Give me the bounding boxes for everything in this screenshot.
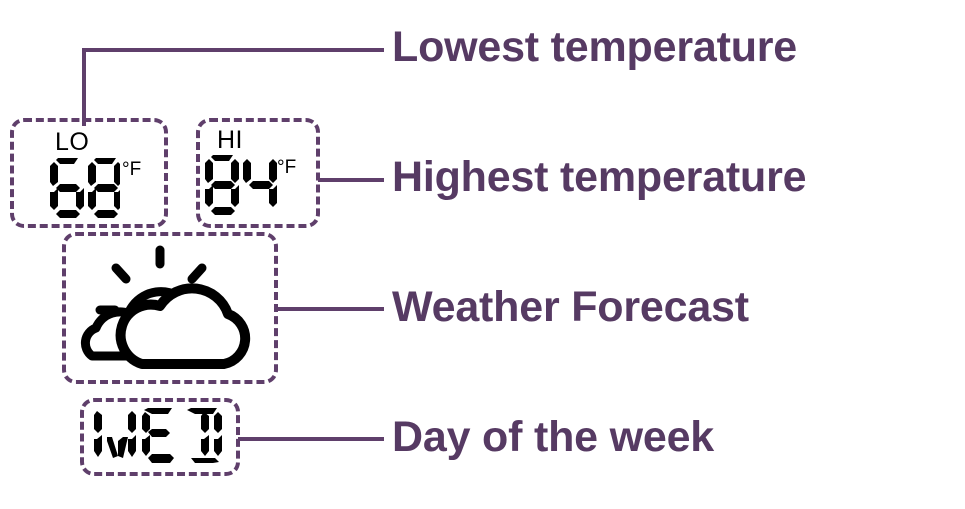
callout-label-highest-temperature: Highest temperature (392, 156, 806, 199)
high-temperature-unit: °F (277, 158, 296, 177)
high-temperature-tag: HI (217, 128, 243, 153)
leader-line-day (238, 437, 384, 441)
callout-label-weather-forecast: Weather Forecast (392, 286, 749, 329)
leader-line-highest (318, 178, 384, 182)
leader-line-forecast (276, 307, 384, 311)
partly-cloudy-icon (72, 244, 268, 374)
low-temperature-value (50, 156, 120, 222)
weather-display-callout-diagram: LO °F HI (0, 0, 965, 509)
leader-line-lowest-horizontal (82, 48, 384, 52)
low-temperature-unit: °F (122, 160, 141, 179)
callout-label-lowest-temperature: Lowest temperature (392, 26, 797, 69)
day-of-week-value (94, 406, 226, 468)
low-temperature-tag: LO (55, 130, 89, 155)
leader-line-lowest-vertical (82, 48, 86, 126)
high-temperature-value (205, 153, 279, 223)
callout-label-day-of-week: Day of the week (392, 416, 714, 459)
